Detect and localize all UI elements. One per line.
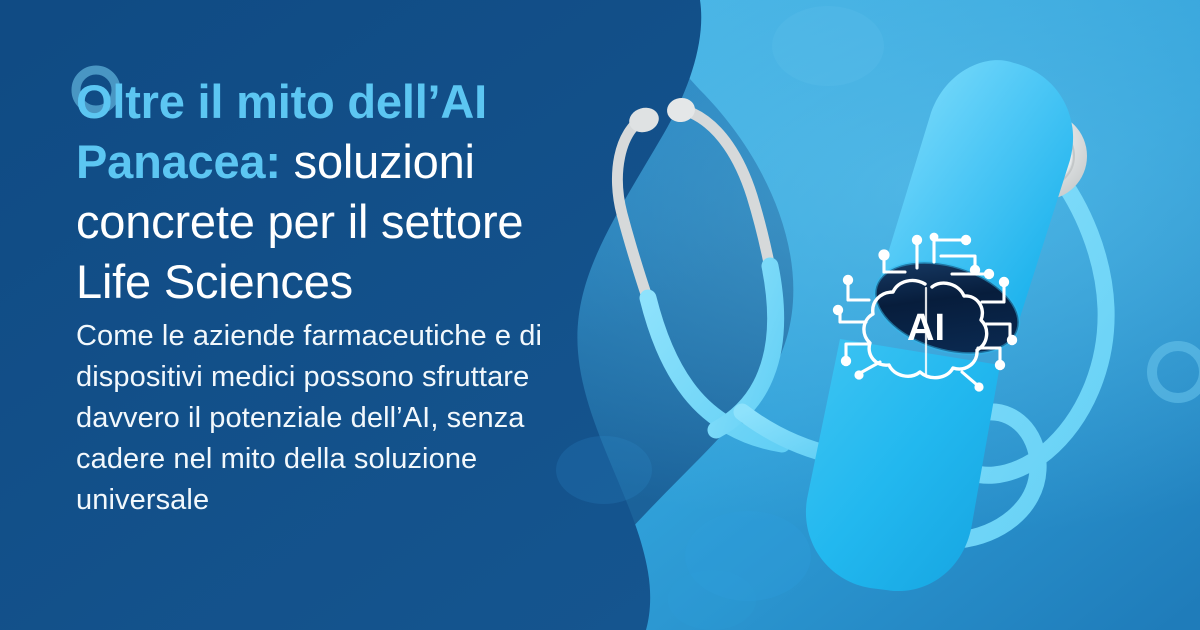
text-layer: Oltre il mito dell’AI Panacea: soluzioni… xyxy=(0,0,1200,630)
promo-banner: AI Oltre il mito dell’AI Panacea: soluzi… xyxy=(0,0,1200,630)
page-subtitle: Come le aziende farmaceutiche e di dispo… xyxy=(76,316,546,521)
page-title: Oltre il mito dell’AI Panacea: soluzioni… xyxy=(76,72,606,312)
